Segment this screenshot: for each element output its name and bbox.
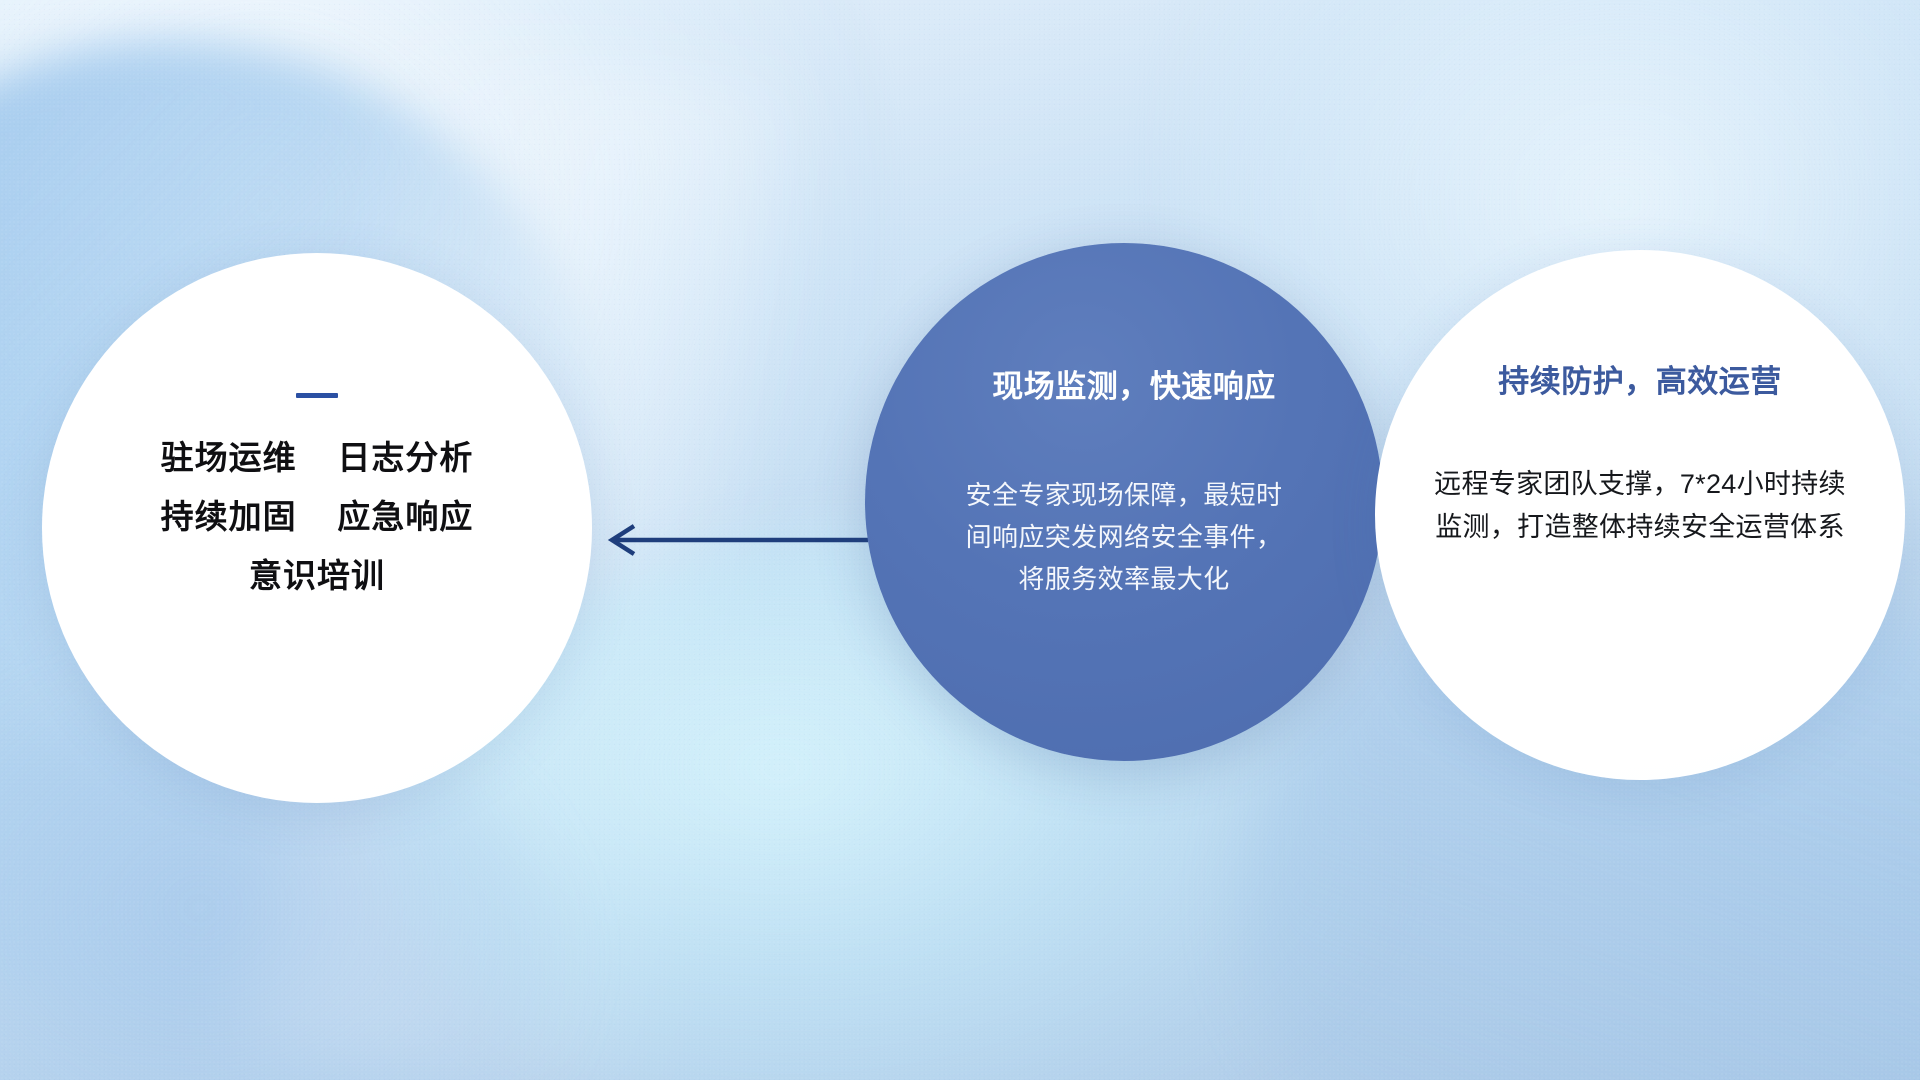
short-dash-divider-icon xyxy=(296,393,338,398)
list-item: 意识培训 xyxy=(249,558,385,595)
list-item: 驻场运维 日志分析 xyxy=(161,440,474,477)
arrow-left-icon xyxy=(600,520,870,560)
list-item: 持续加固 应急响应 xyxy=(161,499,474,536)
slide-canvas: 驻场运维 日志分析 持续加固 应急响应 意识培训 现场监测，快速响应 安全专家现… xyxy=(0,0,1920,1080)
left-circle-capability-list: 驻场运维 日志分析 持续加固 应急响应 意识培训 xyxy=(161,440,474,595)
right-circle-card xyxy=(1375,250,1905,780)
left-circle-card: 驻场运维 日志分析 持续加固 应急响应 意识培训 xyxy=(42,253,592,803)
middle-circle-card xyxy=(865,243,1383,761)
